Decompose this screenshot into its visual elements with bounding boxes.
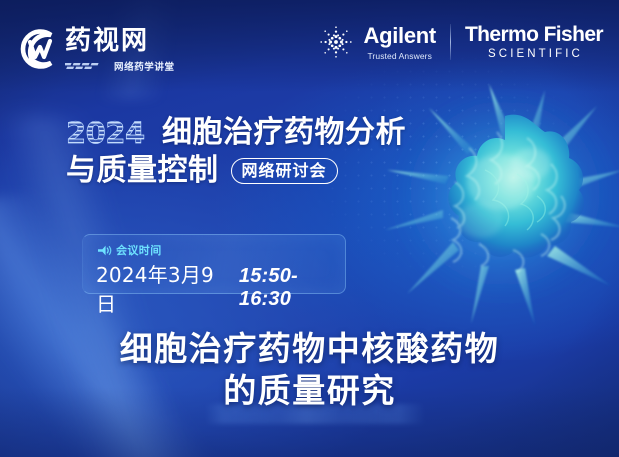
meeting-time-value-row: 2024年3月9日 15:50-16:30 bbox=[96, 259, 345, 317]
webinar-badge: 网络研讨会 bbox=[231, 158, 338, 185]
brand-name: 药视网 bbox=[65, 28, 175, 54]
speed-dashes-icon bbox=[65, 62, 109, 70]
agilent-starburst-icon bbox=[316, 22, 356, 62]
cw-circle-logo-icon bbox=[13, 26, 59, 72]
meeting-date: 2024年3月9日 bbox=[96, 259, 228, 317]
sponsor-logo-thermofisher[interactable]: Thermo Fisher SCIENTIFIC bbox=[465, 24, 603, 60]
subject-line-2: 的质量研究 bbox=[0, 370, 619, 412]
thermofisher-name: Thermo Fisher bbox=[465, 24, 603, 45]
agilent-name: Agilent bbox=[363, 25, 435, 47]
megaphone-icon bbox=[97, 244, 112, 257]
sponsor-logo-agilent[interactable]: Agilent Trusted Answers bbox=[316, 22, 435, 62]
brand-subtitle: 网络药学讲堂 bbox=[114, 59, 175, 73]
poster-header: 药视网 网络药学讲堂 bbox=[0, 0, 619, 92]
sponsor-logos: Agilent Trusted Answers Thermo Fisher SC… bbox=[316, 22, 603, 62]
svg-text:2024: 2024 bbox=[66, 118, 145, 148]
brand-logo-yaoshiwang[interactable]: 药视网 网络药学讲堂 bbox=[13, 26, 175, 73]
meeting-time-panel: 会议时间 2024年3月9日 15:50-16:30 bbox=[82, 234, 346, 294]
thermofisher-subtitle: SCIENTIFIC bbox=[465, 48, 603, 60]
subject-title: 细胞治疗药物中核酸药物 的质量研究 bbox=[0, 328, 619, 411]
title-line-1: 细胞治疗药物分析 bbox=[162, 118, 406, 148]
sponsor-divider bbox=[450, 24, 451, 60]
year-2024-striped-text: 2024 2024 bbox=[66, 118, 154, 148]
agilent-tagline: Trusted Answers bbox=[363, 51, 435, 61]
main-title-block: 2024 2024 细胞治疗药物分析 与质量控制 网络研讨会 bbox=[66, 110, 466, 186]
webinar-poster: 药视网 网络药学讲堂 bbox=[0, 0, 619, 457]
meeting-time-label-row: 会议时间 bbox=[97, 242, 162, 258]
meeting-time-range: 15:50-16:30 bbox=[239, 265, 345, 311]
subject-line-1: 细胞治疗药物中核酸药物 bbox=[0, 328, 619, 370]
title-line-2: 与质量控制 bbox=[66, 156, 219, 186]
meeting-time-label: 会议时间 bbox=[116, 242, 162, 258]
